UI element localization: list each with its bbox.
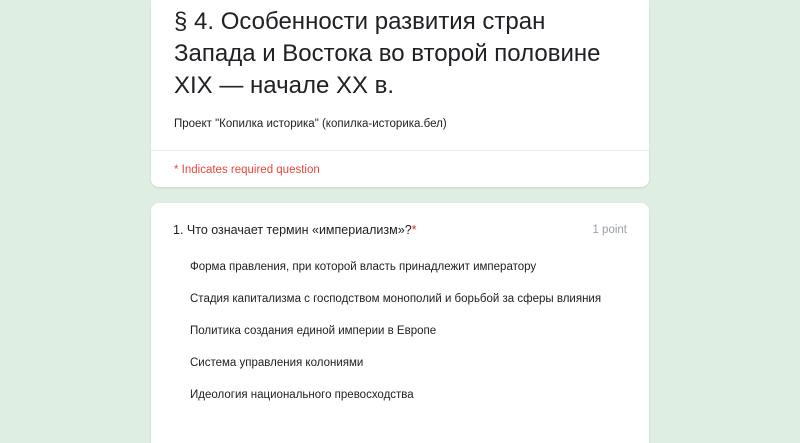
answer-option-label: Форма правления, при которой власть прин…	[190, 259, 649, 275]
answer-option[interactable]: Форма правления, при которой власть прин…	[151, 259, 649, 291]
header-divider	[151, 150, 649, 151]
required-question-note: * Indicates required question	[174, 162, 320, 178]
answer-options-list: Форма правления, при которой власть прин…	[151, 259, 649, 419]
google-forms-page: § 4. Особенности развития стран Запада и…	[0, 0, 800, 420]
form-header-card: § 4. Особенности развития стран Запада и…	[151, 0, 649, 187]
answer-option[interactable]: Система управления колониями	[151, 355, 649, 387]
question-card: 1. Что означает термин «империализм»?* 1…	[151, 203, 649, 443]
answer-option[interactable]: Политика создания единой империи в Европ…	[151, 323, 649, 355]
required-asterisk: *	[412, 223, 417, 237]
question-title-text: 1. Что означает термин «империализм»?	[173, 223, 412, 237]
form-description: Проект "Копилка историка" (копилка-истор…	[174, 116, 634, 132]
answer-option-label: Политика создания единой империи в Европ…	[190, 323, 649, 339]
answer-option[interactable]: Стадия капитализма с господством монопол…	[151, 291, 649, 323]
question-title: 1. Что означает термин «империализм»?*	[173, 220, 417, 240]
answer-option-label: Идеология национального превосходства	[190, 387, 649, 403]
answer-option-label: Стадия капитализма с господством монопол…	[190, 291, 649, 307]
answer-option[interactable]: Идеология национального превосходства	[151, 387, 649, 419]
question-points: 1 point	[592, 220, 627, 240]
form-title: § 4. Особенности развития стран Запада и…	[174, 6, 626, 102]
question-header-row: 1. Что означает термин «империализм»?* 1…	[151, 220, 649, 240]
answer-option-label: Система управления колониями	[190, 355, 649, 371]
